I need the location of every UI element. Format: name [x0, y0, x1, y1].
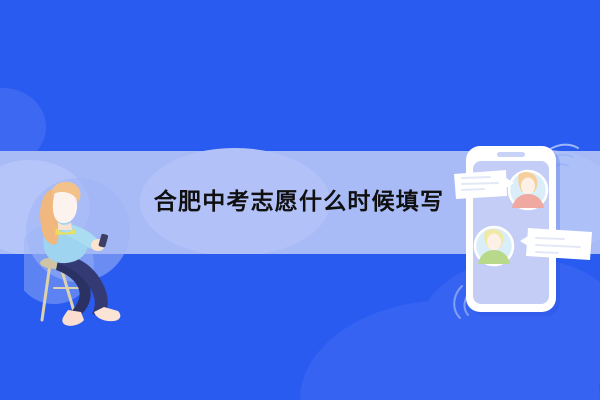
shoe-back [62, 310, 84, 326]
headline-banner: 合肥中考志愿什么时候填写 [0, 151, 600, 254]
screenshot-canvas: 合肥中考志愿什么时候填写 [0, 0, 600, 400]
page-title: 合肥中考志愿什么时候填写 [154, 191, 446, 214]
